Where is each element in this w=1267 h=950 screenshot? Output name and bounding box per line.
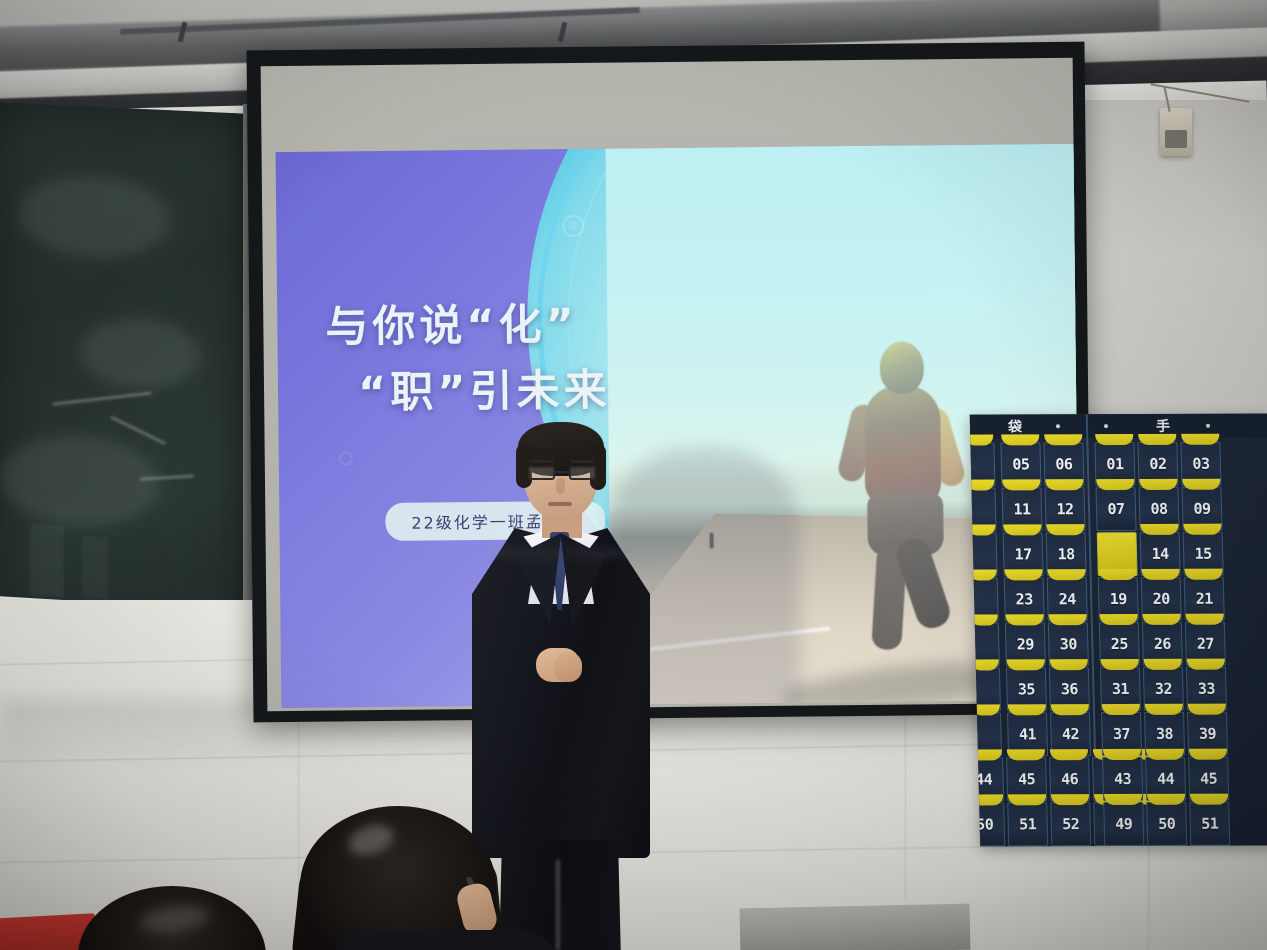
pocket-number: 02 xyxy=(1149,455,1167,473)
pocket-flap xyxy=(970,479,995,490)
pocket-flap xyxy=(1142,569,1180,580)
pocket-number: 06 xyxy=(1055,455,1073,473)
pocket-number: 15 xyxy=(1194,545,1212,563)
pocket-flap xyxy=(970,524,996,535)
phone-pocket[interactable]: 49 xyxy=(1103,802,1144,846)
pocket-number: 12 xyxy=(1056,500,1074,518)
pocket-flap xyxy=(1186,614,1224,625)
pocket-flap xyxy=(1145,704,1183,715)
pocket-flap xyxy=(1051,704,1089,715)
pocket-flap xyxy=(1045,479,1083,490)
pocket-number: 38 xyxy=(1156,725,1174,743)
pocket-flap xyxy=(1049,614,1087,625)
pocket-flap xyxy=(1047,569,1085,580)
pocket-flap xyxy=(1182,479,1220,490)
pocket-flap xyxy=(1002,479,1040,490)
pocket-flap xyxy=(1008,704,1046,715)
pocket-number: 05 xyxy=(1012,455,1030,473)
pocket-number: 08 xyxy=(1150,500,1168,518)
pocket-flap xyxy=(1007,659,1045,670)
pocket-number: 17 xyxy=(1014,545,1032,563)
bokeh-circle-icon xyxy=(339,451,353,465)
pocket-number: 07 xyxy=(1107,500,1125,518)
pocket-flap xyxy=(1104,794,1142,805)
pocket-number: 30 xyxy=(1060,635,1078,653)
pocket-number: 45 xyxy=(1200,770,1218,788)
pocket-flap xyxy=(1103,749,1141,760)
classroom-scene: 与你说“化” “职”引未来 22级化学一班孟敬业 袋 手 05061112171… xyxy=(0,0,1267,950)
wall-mounted-speaker xyxy=(1160,108,1192,156)
slide-title-line-2: “职”引未来 xyxy=(358,363,727,421)
pocket-number: 01 xyxy=(1106,455,1124,473)
pocket-flap xyxy=(1138,434,1176,445)
pocket-number: 14 xyxy=(1151,545,1169,563)
pocket-number: 18 xyxy=(1057,545,1075,563)
pocket-flap xyxy=(1044,434,1082,445)
chalkboard xyxy=(0,102,252,659)
phone-pocket-organizer: 袋 手 050611121718232429303536414243444546… xyxy=(970,414,1267,847)
pocket-flap xyxy=(1051,794,1089,805)
pocket-number: 29 xyxy=(1017,635,1035,653)
pocket-flap xyxy=(970,614,998,625)
pocket-number: 03 xyxy=(1192,455,1210,473)
pocket-number: 23 xyxy=(1015,590,1033,608)
pocket-number: 51 xyxy=(1201,815,1219,833)
pocket-number: 35 xyxy=(1018,680,1036,698)
runner-silhouette xyxy=(838,341,971,672)
pocket-flap xyxy=(1187,659,1225,670)
pocket-number: 21 xyxy=(1196,590,1214,608)
pocket-number: 52 xyxy=(1062,815,1080,833)
pocket-flap xyxy=(1188,704,1226,715)
pocket-flap xyxy=(1143,614,1181,625)
pocket-flap xyxy=(1050,749,1088,760)
pocket-flap xyxy=(1001,434,1039,445)
pocket-flap xyxy=(1100,614,1138,625)
pocket-number: 51 xyxy=(1019,815,1037,833)
pocket-number: 46 xyxy=(1061,770,1079,788)
pocket-flap xyxy=(1144,659,1182,670)
pocket-number: 20 xyxy=(1152,590,1170,608)
pocket-flap xyxy=(1189,749,1227,760)
slide-title-line-1: 与你说“化” xyxy=(325,297,726,355)
pocket-number: 19 xyxy=(1109,590,1127,608)
pocket-number: 33 xyxy=(1198,680,1216,698)
pocket-flap xyxy=(1181,434,1219,445)
pocket-number: 27 xyxy=(1197,635,1215,653)
pocket-number: 41 xyxy=(1019,725,1037,743)
pocket-flap xyxy=(1003,524,1041,535)
pocket-flap xyxy=(1101,659,1139,670)
pocket-flap xyxy=(1008,794,1046,805)
pocket-flap xyxy=(970,569,997,580)
pocket-flap xyxy=(1183,524,1221,535)
pocket-flap xyxy=(1190,794,1228,805)
pocket-number: 37 xyxy=(1113,725,1131,743)
pocket-flap xyxy=(1147,794,1185,805)
phone-pocket[interactable]: 07 xyxy=(1096,487,1137,531)
pocket-flap xyxy=(1004,569,1042,580)
pocket-flap xyxy=(1006,614,1044,625)
pocket-flap xyxy=(1140,524,1178,535)
pocket-flap xyxy=(1096,479,1134,490)
pocket-number: 31 xyxy=(1112,680,1130,698)
pocket-flap xyxy=(1095,434,1133,445)
pocket-flap xyxy=(1007,749,1045,760)
pocket-flap xyxy=(1146,749,1184,760)
pocket-number: 25 xyxy=(1111,635,1129,653)
phone-pocket[interactable]: 51 xyxy=(1007,802,1048,846)
pocket-flap xyxy=(1185,569,1223,580)
presentation-slide: 与你说“化” “职”引未来 22级化学一班孟敬业 xyxy=(276,144,1080,708)
pocket-flap xyxy=(1099,569,1137,580)
projection-screen-surface: 与你说“化” “职”引未来 22级化学一班孟敬业 xyxy=(261,58,1080,711)
pocket-number: 45 xyxy=(1018,770,1036,788)
pocket-flap xyxy=(971,659,999,670)
pocket-number: 24 xyxy=(1058,590,1076,608)
phone-pocket[interactable]: 52 xyxy=(1050,802,1091,846)
pocket-number: 36 xyxy=(1061,680,1079,698)
pocket-number: 49 xyxy=(1115,815,1133,833)
pocket-number: 26 xyxy=(1154,635,1172,653)
pocket-number: 44 xyxy=(1157,770,1175,788)
phone-pocket[interactable]: 50 xyxy=(1146,802,1187,846)
pocket-number: 11 xyxy=(1013,500,1031,518)
pocket-number: 39 xyxy=(1199,725,1217,743)
pocket-number: 32 xyxy=(1155,680,1173,698)
pocket-number: 42 xyxy=(1062,725,1080,743)
pocket-flap xyxy=(1050,659,1088,670)
student-body xyxy=(330,930,560,950)
bokeh-dot-icon xyxy=(568,221,578,231)
pocket-flap xyxy=(1046,524,1084,535)
slide-title-block: 与你说“化” “职”引未来 xyxy=(325,297,726,421)
pocket-flap xyxy=(970,435,994,446)
pocket-number: 50 xyxy=(1158,815,1176,833)
pocket-flap xyxy=(972,704,1000,715)
pocket-flap xyxy=(1102,704,1140,715)
desk-front xyxy=(740,904,971,950)
pocket-number: 09 xyxy=(1193,500,1211,518)
pocket-number: 43 xyxy=(1114,770,1132,788)
pocket-flap xyxy=(1139,479,1177,490)
phone-pocket[interactable]: 51 xyxy=(1189,802,1230,846)
